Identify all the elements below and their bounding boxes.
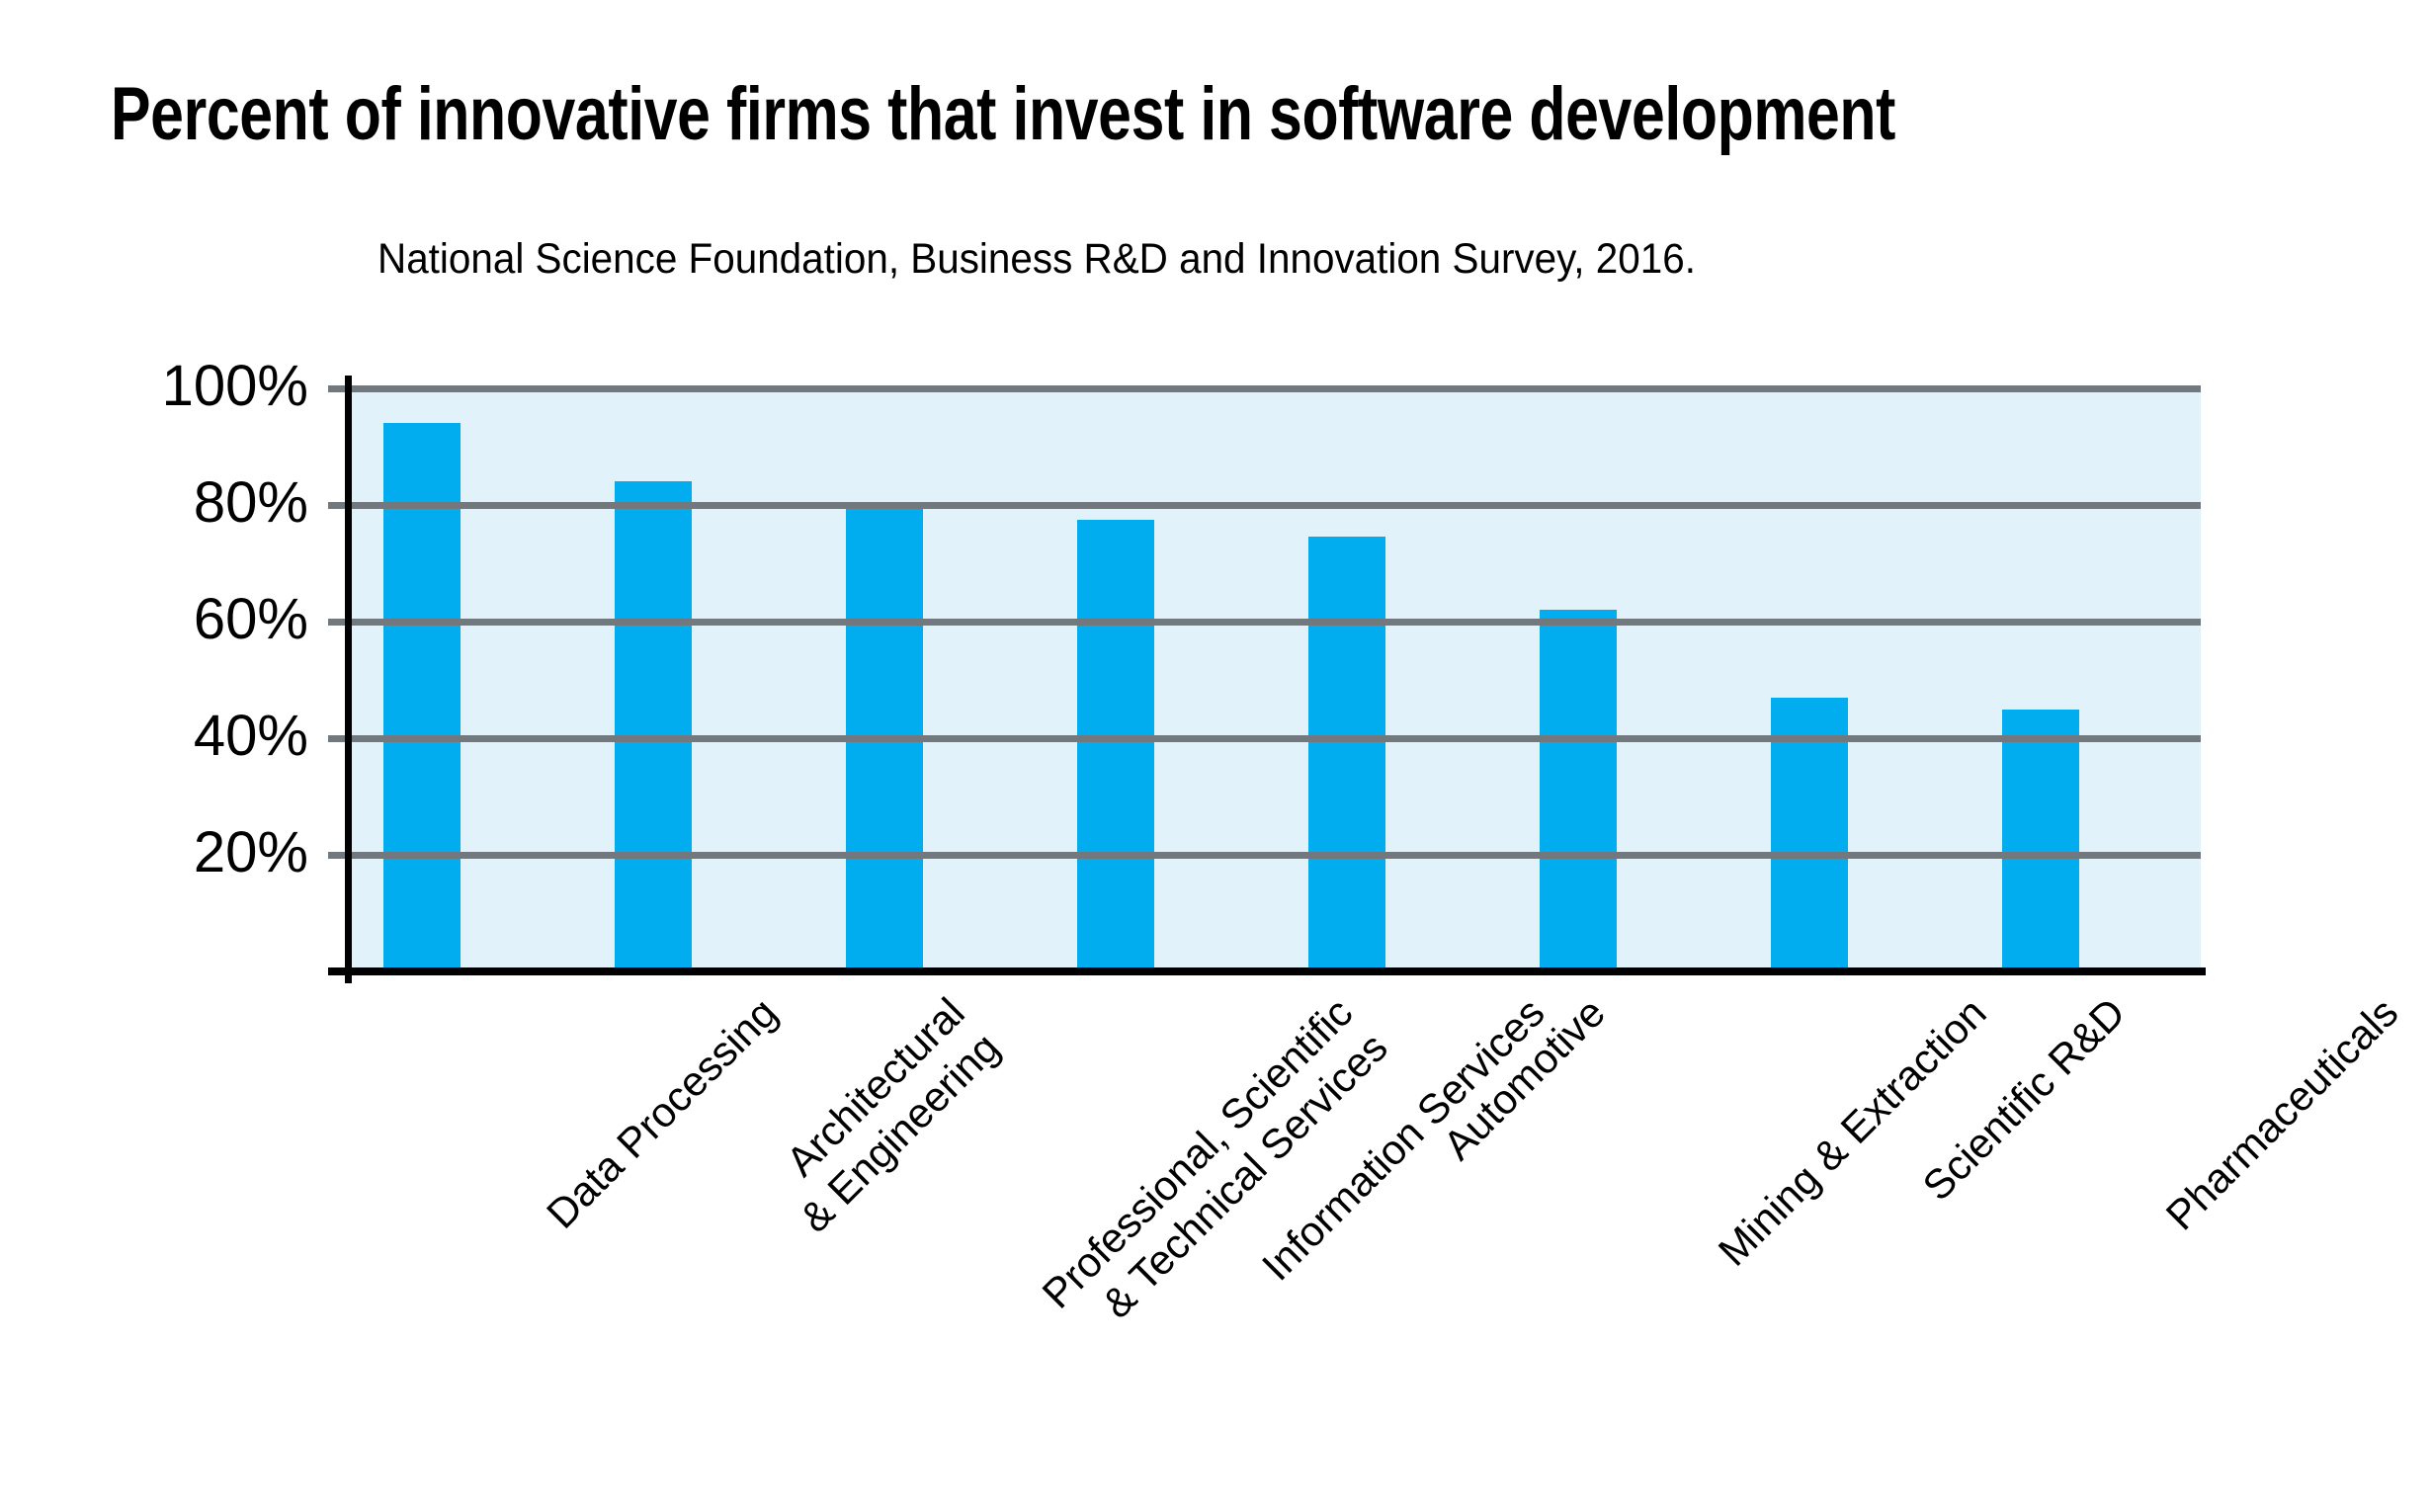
chart-figure: Percent of innovative firms that invest … <box>0 0 2431 1512</box>
x-axis-tick-label-line: Data Processing <box>538 989 786 1237</box>
x-axis-tick-label: Mining & Extraction <box>1709 988 1996 1276</box>
chart-subtitle: National Science Foundation, Business R&… <box>377 235 1696 284</box>
x-axis-tick-label: Architectural& Engineering <box>755 988 1009 1242</box>
bar[interactable] <box>1308 537 1385 971</box>
y-axis-tick-label: 60% <box>71 586 308 652</box>
gridline <box>328 735 2201 742</box>
y-axis-line <box>345 376 352 983</box>
bar[interactable] <box>1540 610 1617 971</box>
gridline <box>328 502 2201 509</box>
y-axis-tick-label: 40% <box>71 703 308 769</box>
x-axis-tick-label-line: Professional, Scientific <box>1033 989 1361 1317</box>
plot-area <box>351 388 2201 971</box>
x-axis-tick-label-line: Pharmaceuticals <box>2157 989 2407 1239</box>
bar[interactable] <box>1077 520 1154 971</box>
page-title: Percent of innovative firms that invest … <box>111 77 1897 152</box>
gridline <box>328 619 2201 626</box>
y-axis-tick-label: 20% <box>71 819 308 885</box>
y-axis-tick-label: 100% <box>71 353 308 419</box>
y-axis-tick-label: 80% <box>71 469 308 536</box>
x-axis-tick-label: Pharmaceuticals <box>2156 988 2408 1240</box>
gridline <box>328 852 2201 859</box>
bar[interactable] <box>2002 710 2079 972</box>
bar[interactable] <box>615 481 692 971</box>
gridline <box>328 385 2201 392</box>
x-axis-tick-label-line: Mining & Extraction <box>1710 989 1995 1275</box>
x-axis-line <box>328 967 2206 975</box>
x-axis-tick-label: Data Processing <box>537 988 787 1238</box>
